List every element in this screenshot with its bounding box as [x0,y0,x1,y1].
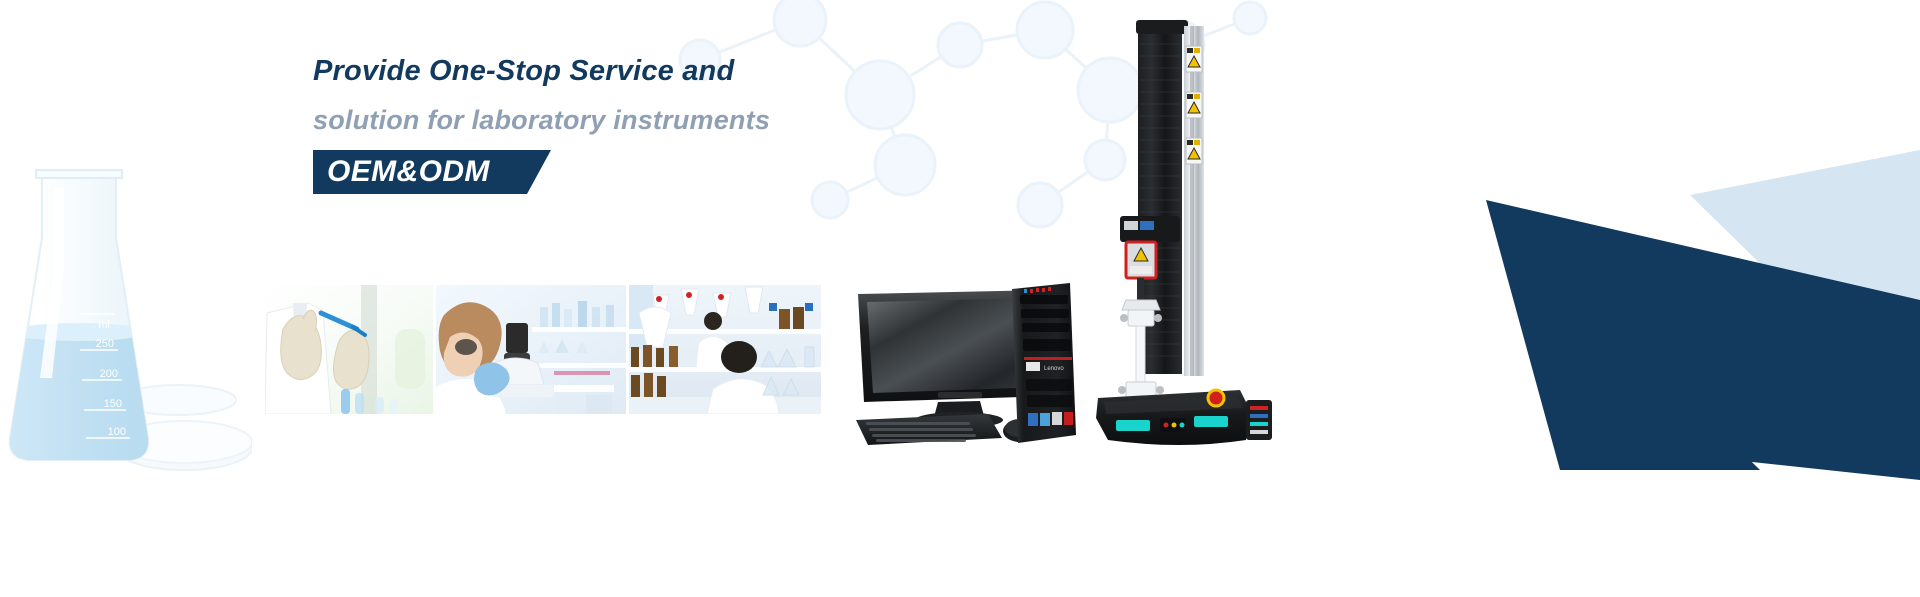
desktop-pc-tower: Lenovo [1010,283,1078,443]
cyan-accent-left [1116,420,1150,431]
headline-line-1: Provide One-Stop Service and [313,54,1073,88]
universal-tensile-testing-machine [1090,16,1300,448]
photo-lab-bench [629,285,821,414]
erlenmeyer-flask-illustration: ml 250 200 150 100 [2,118,252,478]
headline-block: Provide One-Stop Service and solution fo… [313,54,1073,194]
navy-wedge-tail [1486,200,1760,470]
svg-text:200: 200 [100,368,118,380]
svg-text:250: 250 [96,338,114,350]
svg-text:150: 150 [104,398,122,410]
svg-text:ml: ml [98,319,110,331]
warning-labels [1186,46,1202,164]
oem-odm-badge-label: OEM&ODM [313,150,518,194]
headline-line-2: solution for laboratory instruments [313,104,1073,136]
cyan-accent-right [1194,416,1228,427]
light-wedge [1690,150,1920,420]
oem-odm-badge: OEM&ODM [313,150,518,194]
hero-banner: ml 250 200 150 100 Provide One-Stop Serv… [0,0,1920,597]
lab-photo-strip [265,285,821,414]
svg-text:100: 100 [108,426,126,438]
photo-pipetting-test-tubes [265,285,433,414]
navy-wedge [1486,200,1920,480]
photo-microscope [436,285,626,414]
svg-text:Lenovo: Lenovo [1044,366,1064,372]
